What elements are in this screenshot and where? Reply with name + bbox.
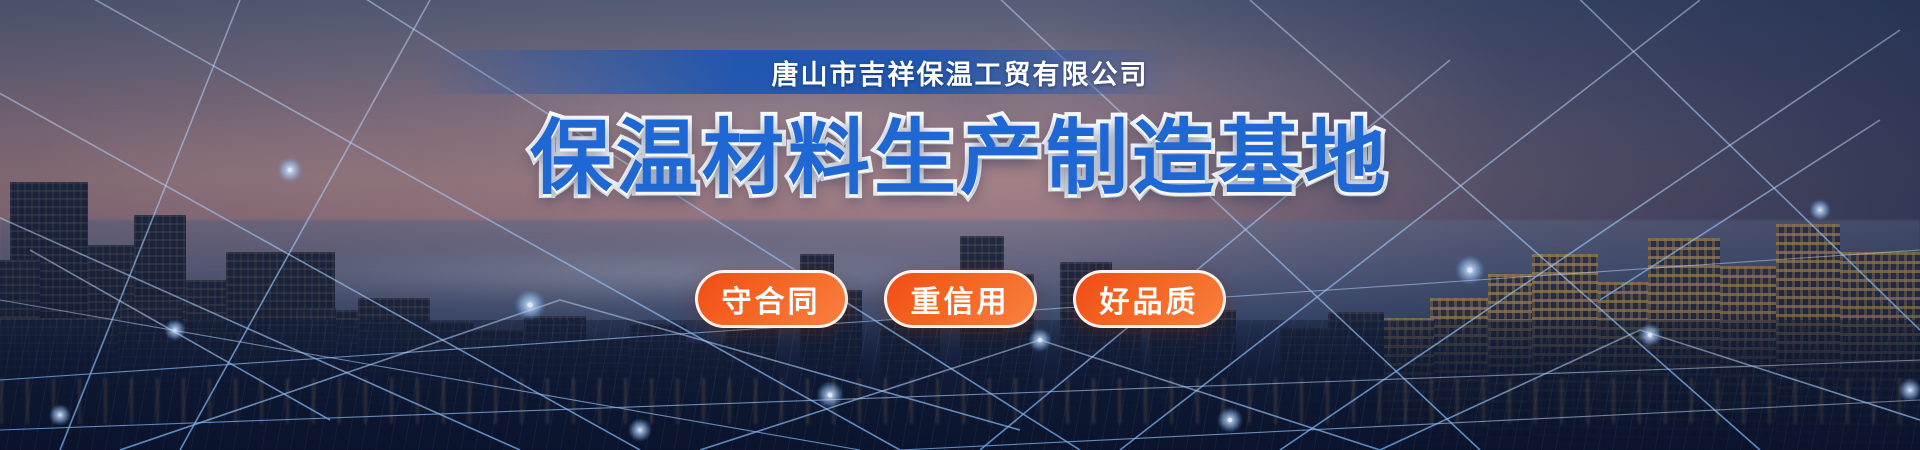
badge-row: 守合同 重信用 好品质 xyxy=(0,267,1920,331)
headline: 保温材料生产制造基地 xyxy=(0,104,1920,196)
badge-shou-he-tong[interactable]: 守合同 xyxy=(695,270,848,328)
badge-zhong-xin-yong[interactable]: 重信用 xyxy=(884,270,1037,328)
banner-content: 唐山市吉祥保温工贸有限公司 保温材料生产制造基地 守合同 重信用 好品质 xyxy=(0,0,1920,450)
badge-hao-pin-zhi[interactable]: 好品质 xyxy=(1073,270,1226,328)
promo-banner: 唐山市吉祥保温工贸有限公司 保温材料生产制造基地 守合同 重信用 好品质 xyxy=(0,0,1920,450)
company-name: 唐山市吉祥保温工贸有限公司 xyxy=(0,50,1920,94)
